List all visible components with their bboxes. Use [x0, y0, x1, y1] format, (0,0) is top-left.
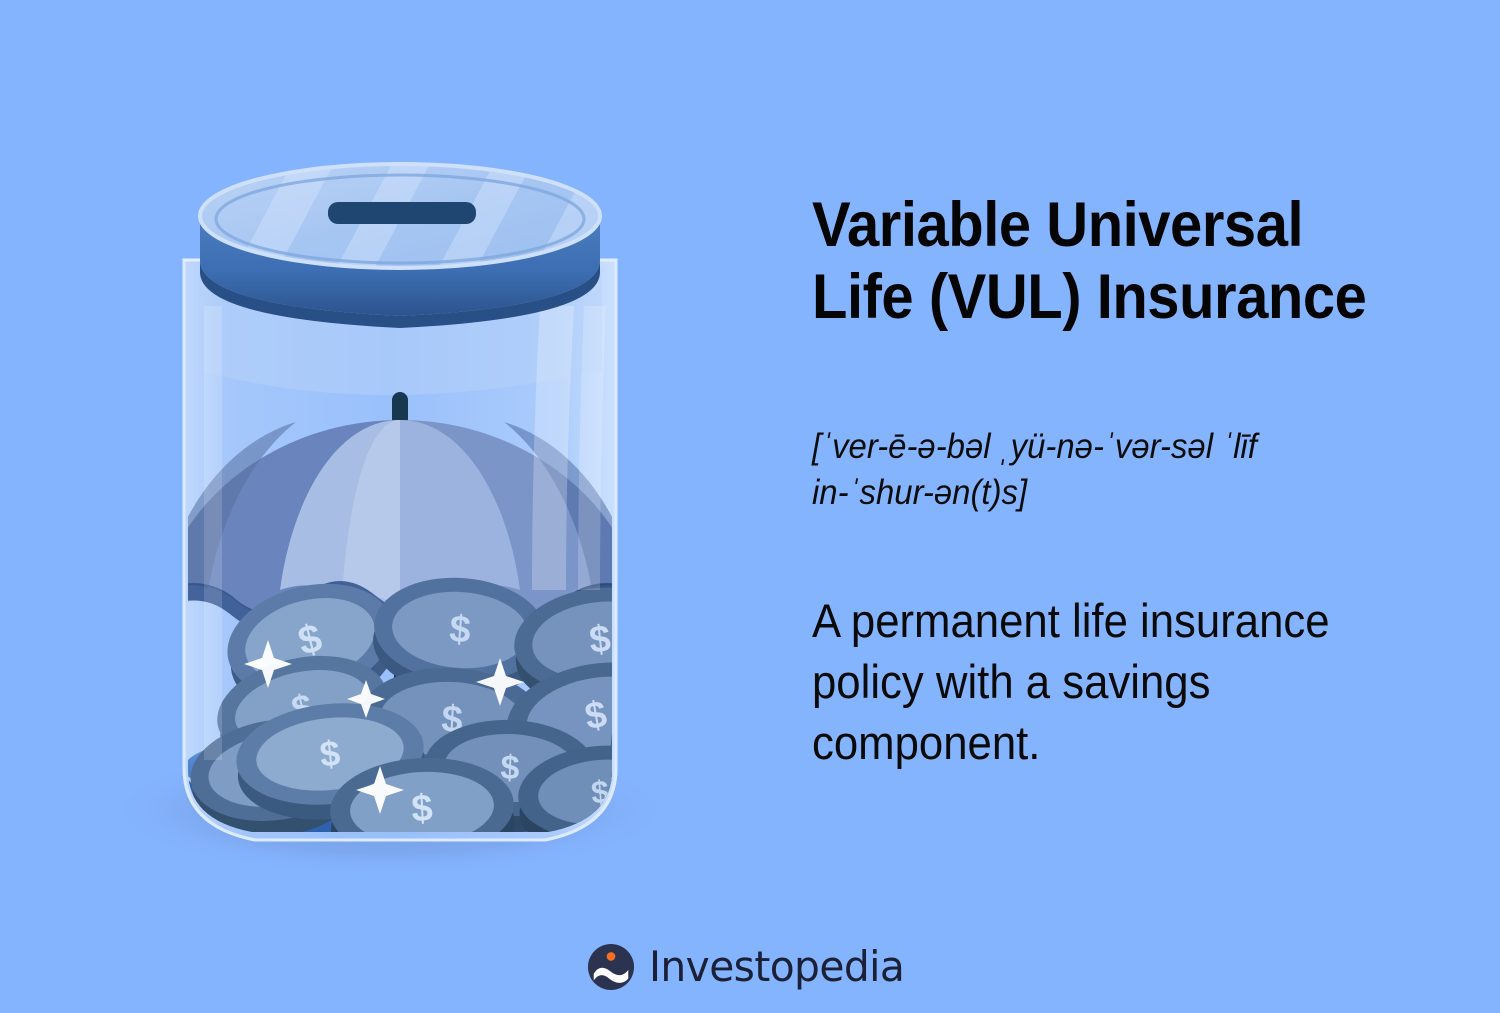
savings-jar-illustration: $ $ $	[80, 120, 720, 880]
page-title: Variable Universal Life (VUL) Insurance	[812, 190, 1428, 334]
svg-text:$: $	[587, 618, 612, 662]
pronunciation-text: [ˈver-ē-ə-bəl ˌyü-nə-ˈvər-səl ˈlīf in-ˈs…	[812, 424, 1470, 515]
svg-text:$: $	[654, 709, 674, 750]
savings-jar-svg: $ $ $	[80, 120, 720, 880]
definition-text: A permanent life insurance policy with a…	[812, 590, 1463, 773]
svg-text:$: $	[448, 608, 472, 651]
svg-text:$: $	[318, 732, 342, 775]
definition-graphic-canvas: $ $ $	[0, 0, 1500, 1013]
investopedia-logo[interactable]: Investopedia	[0, 943, 1500, 991]
definition-text-block: Variable Universal Life (VUL) Insurance …	[812, 190, 1482, 334]
brand-wordmark: Investopedia	[649, 946, 904, 988]
coin-slot	[328, 202, 476, 224]
svg-text:$: $	[410, 787, 433, 830]
investopedia-logo-icon	[587, 943, 635, 991]
